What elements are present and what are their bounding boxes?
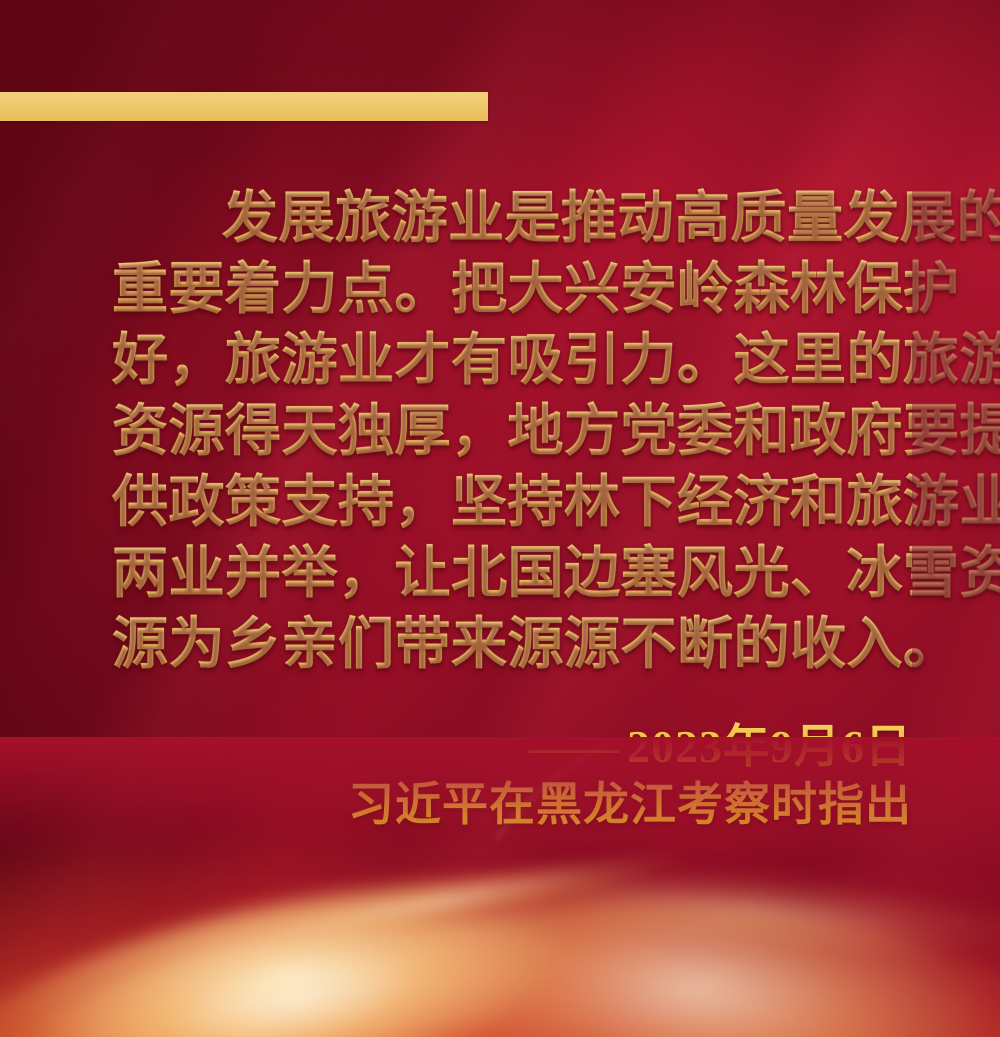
quote-line: 发展旅游业是推动高质量发展的: [112, 182, 912, 253]
quote-line: 资源得天独厚，地方党委和政府要提: [112, 395, 912, 466]
light-ribbon-decoration: [0, 737, 1000, 1037]
ribbon-right-glow: [300, 877, 1000, 1037]
quote-text-block: 发展旅游业是推动高质量发展的 重要着力点。把大兴安岭森林保护 好，旅游业才有吸引…: [112, 182, 912, 679]
quote-line: 源为乡亲们带来源源不断的收入。: [112, 608, 912, 679]
quote-line: 好，旅游业才有吸引力。这里的旅游: [112, 324, 912, 395]
quote-line: 重要着力点。把大兴安岭森林保护: [112, 253, 912, 324]
quote-line: 供政策支持，坚持林下经济和旅游业: [112, 466, 912, 537]
quote-line: 两业并举，让北国边塞风光、冰雪资: [112, 537, 912, 608]
gold-accent-bar: [0, 92, 488, 121]
quote-poster: 发展旅游业是推动高质量发展的 重要着力点。把大兴安岭森林保护 好，旅游业才有吸引…: [0, 0, 1000, 1037]
ribbon-top-fade: [0, 737, 1000, 857]
